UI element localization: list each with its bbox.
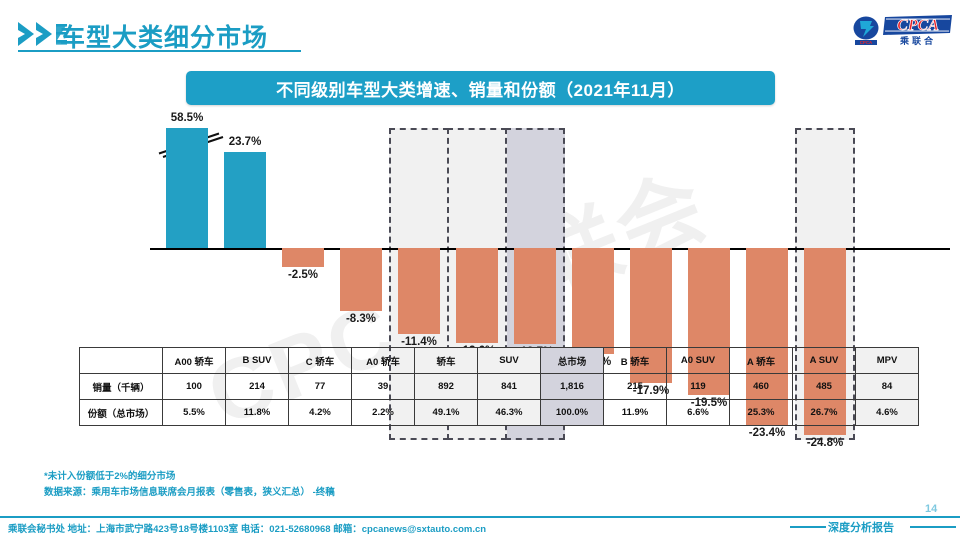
footnote-1: *未计入份额低于2%的细分市场: [44, 468, 175, 482]
bar: [340, 248, 382, 311]
footer-badge-rule-right: [910, 526, 956, 528]
footnote-2: 数据来源：乘用车市场信息联席会月报表（零售表，狭义汇总） -终稿: [44, 484, 335, 498]
table-col-header: B SUV: [226, 348, 289, 374]
footer-badge: 深度分析报告: [828, 519, 894, 535]
table-cell: 46.3%: [478, 400, 541, 426]
table-cell: 49.1%: [415, 400, 478, 426]
table-cell: 39: [352, 374, 415, 400]
table-col-header: A00 轿车: [163, 348, 226, 374]
bar: [282, 248, 324, 267]
bar-value-label: -24.8%: [793, 437, 857, 449]
table-row: 份额（总市场）5.5%11.8%4.2%2.2%49.1%46.3%100.0%…: [80, 400, 919, 426]
bar-chart: 58.5%23.7%-2.5%-8.3%-11.4%-12.6%-12.7%-1…: [0, 110, 960, 360]
table-cell: 77: [289, 374, 352, 400]
table-col-header: A0 SUV: [667, 348, 730, 374]
table-cell: 214: [226, 374, 289, 400]
footer-divider: [0, 516, 960, 518]
logo-wordmark: CPCA 乘联合: [883, 15, 952, 46]
table-cell: 100.0%: [541, 400, 604, 426]
table-cell: 119: [667, 374, 730, 400]
table-cell: 84: [856, 374, 919, 400]
table-cell: 11.9%: [604, 400, 667, 426]
table-col-header: MPV: [856, 348, 919, 374]
table-col-header: SUV: [478, 348, 541, 374]
table-corner-cell: [80, 348, 163, 374]
cpca-logo: CPCA CPCA 乘联合: [852, 13, 952, 49]
table-cell: 11.8%: [226, 400, 289, 426]
bar: [514, 248, 556, 344]
data-table: A00 轿车B SUVC 轿车A0 轿车轿车SUV总市场B 轿车A0 SUVA …: [79, 347, 919, 426]
title-underline: [18, 50, 301, 52]
table-cell: 26.7%: [793, 400, 856, 426]
table-cell: 5.5%: [163, 400, 226, 426]
bar-value-label: 23.7%: [213, 136, 277, 148]
table-row-header: 份额（总市场）: [80, 400, 163, 426]
chart-title-banner: 不同级别车型大类增速、销量和份额（2021年11月）: [186, 71, 775, 105]
table-row-header: 销量（千辆）: [80, 374, 163, 400]
svg-text:CPCA: CPCA: [860, 40, 873, 45]
bar-value-label: -8.3%: [329, 313, 393, 325]
table-body: 销量（千辆）10021477398928411,8162151194604858…: [80, 374, 919, 426]
bar-value-label: 58.5%: [155, 112, 219, 124]
table-col-header: A 轿车: [730, 348, 793, 374]
table-col-header: C 轿车: [289, 348, 352, 374]
table-cell: 25.3%: [730, 400, 793, 426]
table-header-row: A00 轿车B SUVC 轿车A0 轿车轿车SUV总市场B 轿车A0 SUVA …: [80, 348, 919, 374]
table-cell: 6.6%: [667, 400, 730, 426]
table-cell: 2.2%: [352, 400, 415, 426]
page-number: 14: [925, 503, 937, 515]
table-cell: 215: [604, 374, 667, 400]
bar: [456, 248, 498, 343]
logo-emblem-icon: CPCA: [854, 17, 879, 46]
table-cell: 1,816: [541, 374, 604, 400]
bar: [572, 248, 614, 354]
table-col-header: A SUV: [793, 348, 856, 374]
bar-value-label: -23.4%: [735, 427, 799, 439]
table-cell: 100: [163, 374, 226, 400]
slide-root: 车型大类细分市场 CPCA CPCA 乘联合 不同级别车型大类增速、销量和份额（…: [0, 0, 960, 540]
table-cell: 892: [415, 374, 478, 400]
page-title: 车型大类细分市场: [60, 18, 268, 54]
bar-value-label: -2.5%: [271, 269, 335, 281]
svg-text:乘联合: 乘联合: [899, 35, 936, 46]
bar: [398, 248, 440, 334]
bar: [166, 128, 208, 248]
table-cell: 841: [478, 374, 541, 400]
table-col-header: A0 轿车: [352, 348, 415, 374]
table-col-header: 总市场: [541, 348, 604, 374]
table-cell: 460: [730, 374, 793, 400]
table-col-header: B 轿车: [604, 348, 667, 374]
table-col-header: 轿车: [415, 348, 478, 374]
table-row: 销量（千辆）10021477398928411,8162151194604858…: [80, 374, 919, 400]
table-cell: 485: [793, 374, 856, 400]
bar: [224, 152, 266, 248]
table-cell: 4.6%: [856, 400, 919, 426]
table-cell: 4.2%: [289, 400, 352, 426]
footer-badge-rule-left: [790, 526, 826, 528]
footer-contact: 乘联会秘书处 地址：上海市武宁路423号18号楼1103室 电话：021-526…: [8, 521, 486, 535]
